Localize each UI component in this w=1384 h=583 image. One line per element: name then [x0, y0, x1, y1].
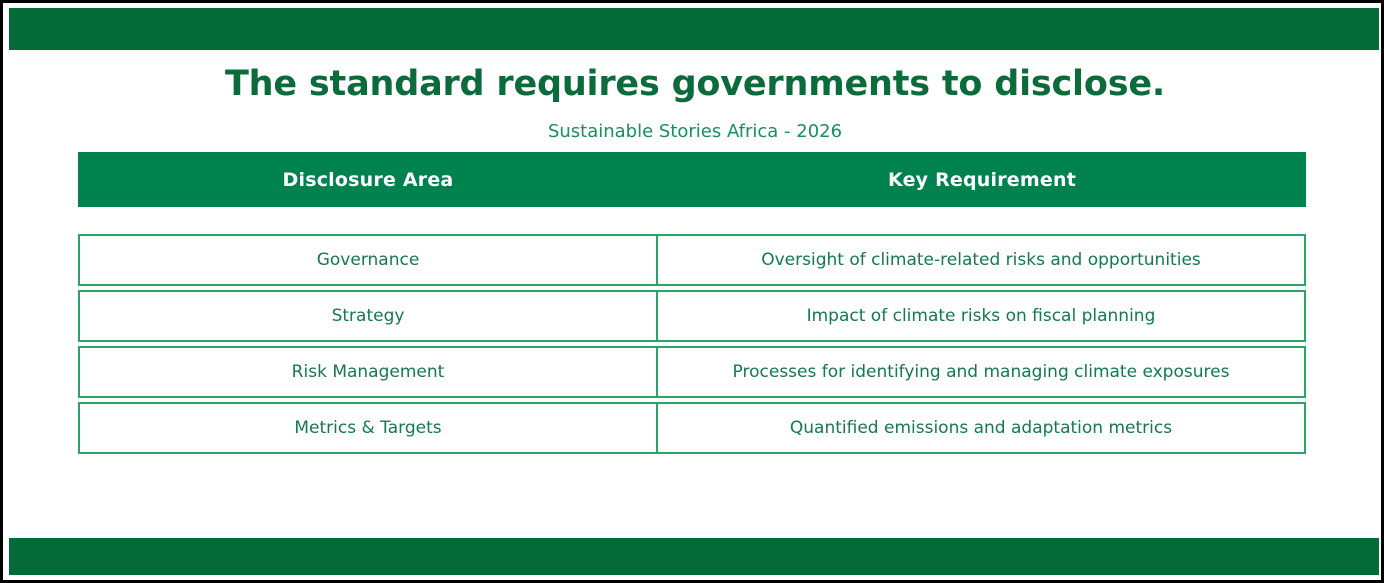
cell-key-requirement: Processes for identifying and managing c…	[658, 348, 1304, 396]
bottom-accent-band	[9, 538, 1379, 575]
page-subtitle: Sustainable Stories Africa - 2026	[3, 121, 1384, 143]
top-accent-band	[9, 8, 1379, 50]
cell-key-requirement: Quantified emissions and adaptation metr…	[658, 404, 1304, 452]
table-row: Risk Management Processes for identifyin…	[78, 346, 1306, 398]
cell-key-requirement: Oversight of climate-related risks and o…	[658, 236, 1304, 284]
column-header-key-requirement: Key Requirement	[658, 152, 1306, 207]
cell-disclosure-area: Strategy	[80, 292, 658, 340]
table-header-row: Disclosure Area Key Requirement	[78, 152, 1306, 207]
table-row: Strategy Impact of climate risks on fisc…	[78, 290, 1306, 342]
page-title: The standard requires governments to dis…	[3, 65, 1384, 104]
table-row: Governance Oversight of climate-related …	[78, 234, 1306, 286]
cell-disclosure-area: Metrics & Targets	[80, 404, 658, 452]
slide-canvas: The standard requires governments to dis…	[0, 0, 1384, 583]
cell-disclosure-area: Risk Management	[80, 348, 658, 396]
cell-disclosure-area: Governance	[80, 236, 658, 284]
disclosure-table: Disclosure Area Key Requirement Governan…	[78, 152, 1306, 454]
cell-key-requirement: Impact of climate risks on fiscal planni…	[658, 292, 1304, 340]
table-row: Metrics & Targets Quantified emissions a…	[78, 402, 1306, 454]
column-header-disclosure-area: Disclosure Area	[78, 152, 658, 207]
table-body: Governance Oversight of climate-related …	[78, 234, 1306, 454]
